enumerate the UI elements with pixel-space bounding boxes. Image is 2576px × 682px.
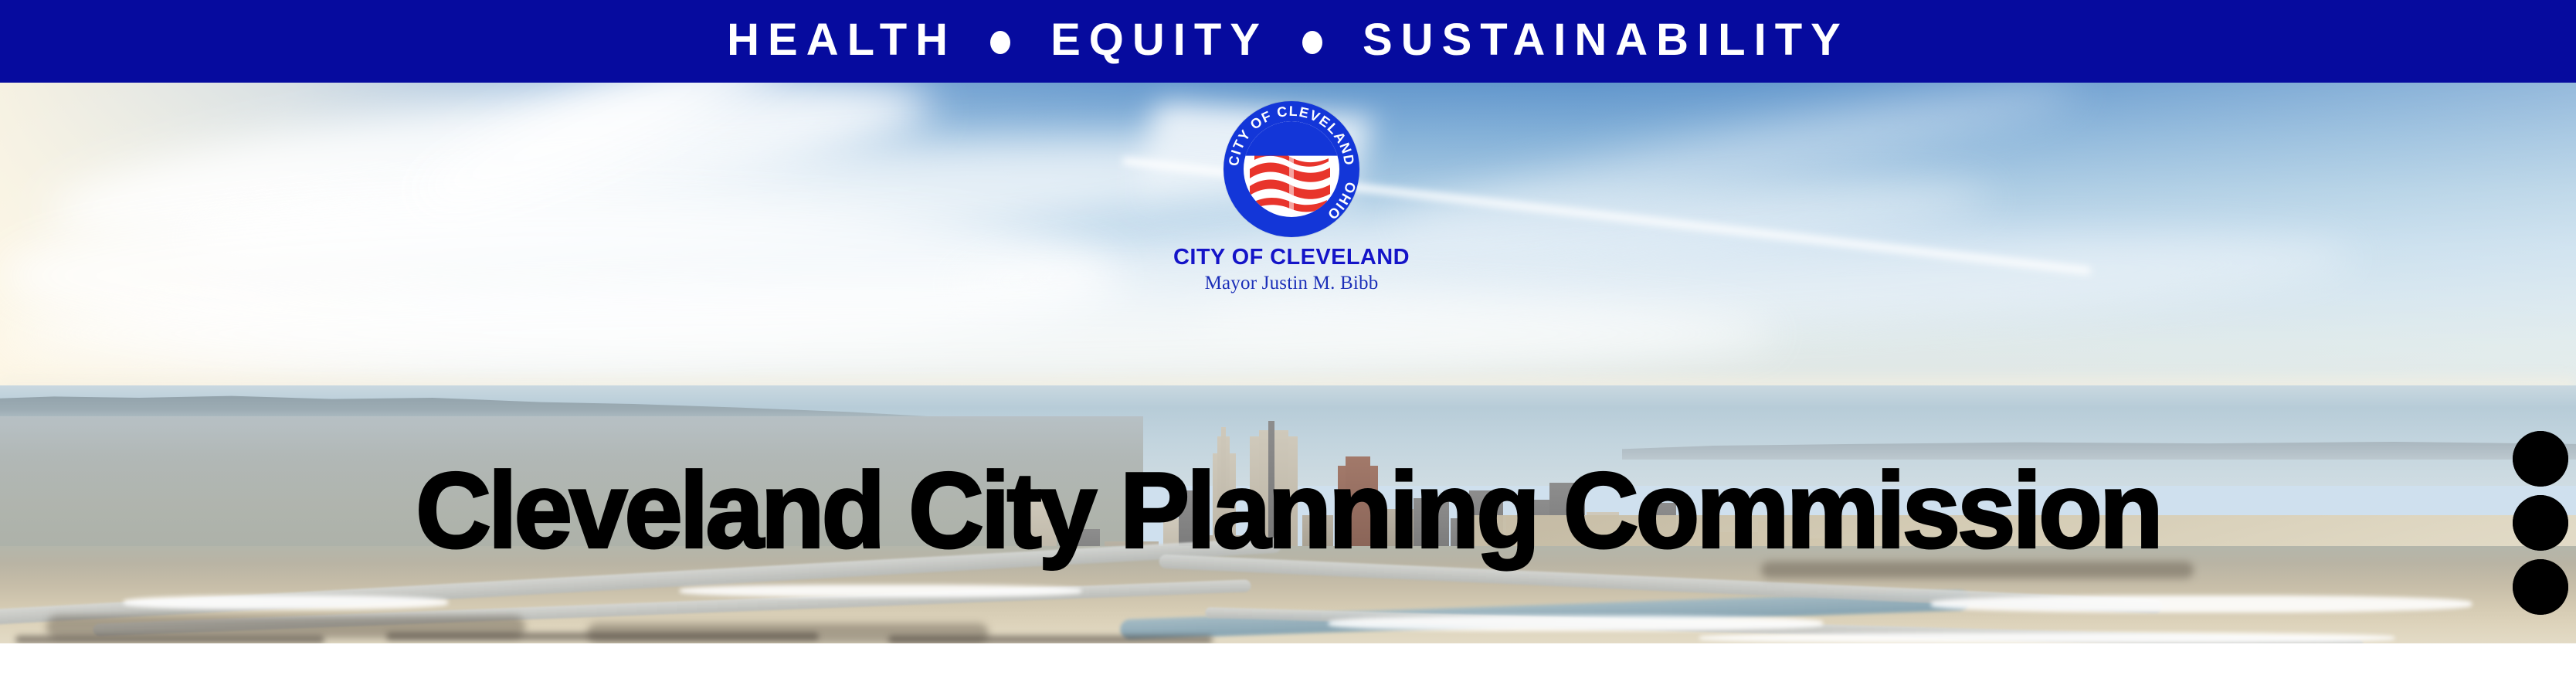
snow xyxy=(1699,633,2394,643)
tagline-word-health: HEALTH xyxy=(727,18,956,63)
logo-city-name: CITY OF CLEVELAND xyxy=(1145,246,1438,269)
tagline-separator-dot-2 xyxy=(1302,31,1322,54)
tagline-word-equity: EQUITY xyxy=(1050,18,1268,63)
cloud xyxy=(0,283,1777,384)
tagline-separator-dot-1 xyxy=(990,31,1010,54)
seal-inner-disc xyxy=(1244,121,1339,217)
social-link-youtube[interactable] xyxy=(2513,431,2568,487)
cleveland-city-seal-icon: CITY OF CLEVELAND OHIO xyxy=(1224,101,1359,237)
page-root: HEALTH EQUITY SUSTAINABILITY xyxy=(0,0,2576,682)
tagline-banner: HEALTH EQUITY SUSTAINABILITY xyxy=(0,0,2576,83)
social-links xyxy=(2513,431,2568,615)
bottom-whitespace xyxy=(0,643,2576,682)
logo-mayor-name: Mayor Justin M. Bibb xyxy=(1145,273,1438,294)
snow xyxy=(680,585,1081,597)
rooftops xyxy=(15,636,324,643)
tagline-banner-inner: HEALTH EQUITY SUSTAINABILITY xyxy=(727,18,1849,63)
snow xyxy=(124,595,448,609)
city-of-cleveland-logo[interactable]: CITY OF CLEVELAND OHIO xyxy=(1145,97,1438,328)
rooftops xyxy=(888,636,1213,643)
youtube-icon xyxy=(2513,431,2568,487)
tagline-word-sustainability: SUSTAINABILITY xyxy=(1363,18,1849,63)
facebook-icon xyxy=(2513,559,2568,615)
rooftops xyxy=(386,633,819,640)
page-title: Cleveland City Planning Commission xyxy=(0,457,2576,565)
snow xyxy=(1329,616,1823,631)
snow xyxy=(1931,595,2472,612)
social-link-facebook[interactable] xyxy=(2513,559,2568,615)
social-link-instagram[interactable] xyxy=(2513,495,2568,551)
instagram-icon xyxy=(2513,495,2568,551)
